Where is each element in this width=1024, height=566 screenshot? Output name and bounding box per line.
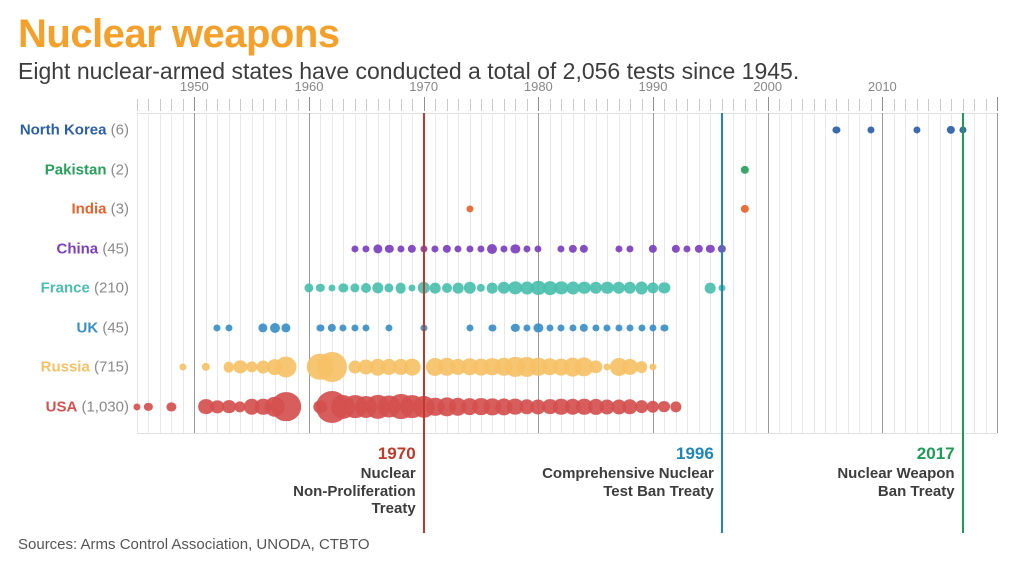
treaty-name-line: Comprehensive Nuclear: [542, 465, 714, 483]
gridline-1999: [756, 113, 757, 433]
data-point: [385, 244, 393, 252]
data-point: [442, 244, 450, 252]
gridline-2009: [871, 113, 872, 433]
data-point: [500, 245, 507, 252]
axis-tick-1968: [401, 99, 402, 111]
gridline-1995: [710, 113, 711, 433]
data-point: [569, 324, 576, 331]
gridline-1974: [470, 113, 471, 433]
data-point: [546, 324, 553, 331]
data-point: [647, 400, 659, 412]
data-point: [466, 324, 473, 331]
gridline-1992: [676, 113, 677, 433]
gridline-1969: [412, 113, 413, 433]
data-point: [179, 363, 186, 370]
gridline-1978: [515, 113, 516, 433]
gridline-1956: [263, 113, 264, 433]
data-point: [615, 324, 622, 331]
treaty-name-line: Treaty: [293, 500, 416, 518]
gridline-2011: [894, 113, 895, 433]
gridline-2002: [791, 113, 792, 433]
gridline-1966: [378, 113, 379, 433]
gridline-1973: [458, 113, 459, 433]
data-point: [615, 245, 622, 252]
axis-tick-label-1960: 1960: [295, 79, 324, 94]
data-point: [569, 244, 577, 252]
axis-tick-1967: [389, 99, 390, 111]
treaty-name-line: Test Ban Treaty: [542, 483, 714, 501]
data-point: [351, 324, 358, 331]
axis-tick-2017: [963, 99, 964, 111]
axis-tick-1969: [412, 99, 413, 111]
axis-tick-1982: [561, 99, 562, 111]
data-point: [466, 205, 473, 212]
treaty-annotation-1996: 1996Comprehensive NuclearTest Ban Treaty: [542, 444, 714, 500]
axis-tick-2014: [928, 99, 929, 111]
row-label-india: India (3): [0, 201, 129, 218]
axis-tick-1997: [733, 99, 734, 111]
plot-bottom-rule: [137, 433, 997, 434]
row-label-name: Russia: [41, 359, 90, 376]
axis-tick-1948: [171, 99, 172, 111]
gridline-2020: [997, 113, 998, 433]
gridline-1976: [492, 113, 493, 433]
data-point: [523, 324, 530, 331]
axis-tick-1955: [252, 99, 253, 111]
axis-tick-1945: [137, 99, 138, 111]
axis-tick-1978: [515, 99, 516, 111]
row-label-china: China (45): [0, 240, 129, 257]
gridline-2016: [951, 113, 952, 433]
gridline-2010: [882, 113, 883, 433]
row-label-north-korea: North Korea (6): [0, 122, 129, 139]
gridline-2001: [779, 113, 780, 433]
row-label-name: France: [41, 280, 90, 297]
axis-tick-2020: [997, 97, 998, 111]
axis-tick-1973: [458, 99, 459, 111]
data-point: [466, 245, 473, 252]
gridline-1975: [481, 113, 482, 433]
row-label-name: USA: [46, 398, 78, 415]
axis-tick-1993: [687, 99, 688, 111]
gridline-1962: [332, 113, 333, 433]
data-point: [339, 283, 348, 292]
gridline-1968: [401, 113, 402, 433]
axis-tick-1965: [366, 99, 367, 111]
axis-tick-2009: [871, 99, 872, 111]
row-label-count: (6): [107, 122, 130, 139]
data-point: [397, 245, 404, 252]
axis-tick-2008: [859, 99, 860, 111]
gridline-1986: [607, 113, 608, 433]
data-point: [558, 324, 565, 331]
treaty-name-line: Non-Proliferation: [293, 483, 416, 501]
sources-note: Sources: Arms Control Association, UNODA…: [18, 536, 370, 553]
data-point: [373, 244, 382, 253]
data-point: [453, 283, 464, 294]
data-point: [636, 361, 648, 373]
row-label-count: (45): [98, 240, 129, 257]
data-point: [276, 356, 297, 377]
gridline-1989: [642, 113, 643, 433]
gridline-2008: [859, 113, 860, 433]
data-point: [649, 324, 656, 331]
axis-tick-1947: [160, 99, 161, 111]
axis-tick-1970: [424, 97, 425, 111]
gridline-1972: [447, 113, 448, 433]
gridline-1987: [619, 113, 620, 433]
axis-tick-1966: [378, 99, 379, 111]
gridline-2004: [814, 113, 815, 433]
gridline-1971: [435, 113, 436, 433]
axis-tick-1979: [527, 99, 528, 111]
gridline-1984: [584, 113, 585, 433]
data-point: [535, 245, 542, 252]
row-label-name: UK: [76, 319, 98, 336]
axis-tick-1962: [332, 99, 333, 111]
row-label-count: (3): [107, 201, 130, 218]
row-label-russia: Russia (715): [0, 359, 129, 376]
treaty-annotation-2017: 2017Nuclear WeaponBan Treaty: [837, 444, 954, 500]
data-point: [523, 245, 530, 252]
axis-tick-1989: [642, 99, 643, 111]
row-label-count: (1,030): [77, 398, 129, 415]
data-point: [340, 324, 347, 331]
data-point: [635, 282, 648, 295]
axis-tick-1975: [481, 99, 482, 111]
gridline-2003: [802, 113, 803, 433]
gridline-1979: [527, 113, 528, 433]
data-point: [659, 401, 671, 413]
row-label-uk: UK (45): [0, 319, 129, 336]
data-point: [627, 245, 634, 252]
data-point: [672, 244, 680, 252]
row-label-count: (2): [107, 161, 130, 178]
axis-tick-1972: [447, 99, 448, 111]
data-point: [558, 245, 565, 252]
data-point: [627, 324, 634, 331]
data-point: [670, 401, 681, 412]
axis-tick-label-1950: 1950: [180, 79, 209, 94]
data-point: [592, 324, 599, 331]
data-point: [487, 283, 498, 294]
gridline-2014: [928, 113, 929, 433]
axis-tick-2012: [905, 99, 906, 111]
data-point: [259, 323, 268, 332]
gridline-1951: [206, 113, 207, 433]
gridline-1948: [171, 113, 172, 433]
gridline-1990: [653, 113, 654, 433]
gridline-2006: [836, 113, 837, 433]
data-point: [947, 126, 955, 134]
treaty-line-1996: [721, 113, 723, 533]
axis-tick-1957: [275, 99, 276, 111]
axis-tick-1988: [630, 99, 631, 111]
data-point: [695, 244, 703, 252]
axis-tick-label-1990: 1990: [639, 79, 668, 94]
axis-tick-1987: [619, 99, 620, 111]
data-point: [363, 245, 370, 252]
gridline-1998: [745, 113, 746, 433]
axis-tick-2002: [791, 99, 792, 111]
axis-tick-1984: [584, 99, 585, 111]
axis-tick-1958: [286, 99, 287, 111]
axis-tick-label-2000: 2000: [753, 79, 782, 94]
data-point: [649, 244, 657, 252]
axis-tick-label-1970: 1970: [409, 79, 438, 94]
axis-tick-1971: [435, 99, 436, 111]
gridline-2012: [905, 113, 906, 433]
axis-tick-2018: [974, 99, 975, 111]
treaty-name-line: Ban Treaty: [837, 483, 954, 501]
axis-tick-1953: [229, 99, 230, 111]
row-label-count: (45): [98, 319, 129, 336]
data-point: [404, 359, 421, 376]
data-point: [913, 126, 920, 133]
data-point: [741, 205, 749, 213]
gridline-1954: [240, 113, 241, 433]
data-point: [270, 323, 280, 333]
data-point: [706, 244, 714, 252]
axis-tick-1959: [298, 99, 299, 111]
treaty-annotation-1970: 1970NuclearNon-ProliferationTreaty: [293, 444, 416, 518]
gridline-1965: [366, 113, 367, 433]
treaty-year: 1970: [293, 444, 416, 464]
axis-tick-1977: [504, 99, 505, 111]
axis-tick-1986: [607, 99, 608, 111]
data-point: [351, 245, 358, 252]
gridline-1949: [183, 113, 184, 433]
axis-tick-1994: [699, 99, 700, 111]
axis-tick-1976: [492, 99, 493, 111]
row-label-count: (715): [90, 359, 129, 376]
data-point: [705, 283, 716, 294]
data-point: [167, 402, 176, 411]
page-title: Nuclear weapons: [18, 14, 340, 54]
axis-tick-1995: [710, 99, 711, 111]
gridline-2015: [940, 113, 941, 433]
gridline-1977: [504, 113, 505, 433]
gridline-1953: [229, 113, 230, 433]
gridline-1994: [699, 113, 700, 433]
gridline-2007: [848, 113, 849, 433]
data-point: [225, 324, 232, 331]
axis-tick-1946: [148, 99, 149, 111]
gridline-1946: [148, 113, 149, 433]
nuclear-weapons-chart: Nuclear weapons Eight nuclear-armed stat…: [0, 0, 1024, 566]
treaty-name-line: Nuclear Weapon: [837, 465, 954, 483]
row-label-france: France (210): [0, 280, 129, 297]
axis-tick-2019: [986, 99, 987, 111]
data-point: [684, 245, 691, 252]
row-label-name: North Korea: [20, 122, 107, 139]
axis-tick-1999: [756, 99, 757, 111]
data-point: [304, 283, 313, 292]
axis-tick-1950: [194, 97, 195, 111]
axis-tick-2007: [848, 99, 849, 111]
axis-tick-1990: [653, 97, 654, 111]
data-point: [350, 283, 359, 292]
data-point: [511, 323, 519, 331]
axis-tick-1992: [676, 99, 677, 111]
axis-tick-2003: [802, 99, 803, 111]
data-point: [328, 284, 335, 291]
axis-tick-2000: [768, 97, 769, 111]
gridline-1963: [343, 113, 344, 433]
gridline-2019: [986, 113, 987, 433]
gridline-1993: [687, 113, 688, 433]
data-point: [246, 361, 257, 372]
treaty-year: 2017: [837, 444, 954, 464]
data-point: [477, 284, 485, 292]
gridline-1985: [596, 113, 597, 433]
treaty-name-line: Nuclear: [293, 465, 416, 483]
plot-top-rule: [137, 113, 997, 114]
data-point: [649, 363, 656, 370]
data-point: [234, 360, 247, 373]
data-point: [741, 165, 749, 173]
gridline-1959: [298, 113, 299, 433]
axis-tick-1960: [309, 97, 310, 111]
axis-tick-2004: [814, 99, 815, 111]
gridline-2000: [768, 113, 769, 433]
data-point: [317, 352, 347, 382]
data-point: [589, 360, 602, 373]
axis-tick-1956: [263, 99, 264, 111]
axis-tick-1964: [355, 99, 356, 111]
data-point: [442, 283, 452, 293]
data-point: [867, 126, 874, 133]
row-label-name: India: [71, 201, 106, 218]
axis-tick-2016: [951, 99, 952, 111]
axis-tick-label-1980: 1980: [524, 79, 553, 94]
data-point: [511, 244, 520, 253]
treaty-year: 1996: [542, 444, 714, 464]
data-point: [214, 324, 221, 331]
data-point: [833, 126, 840, 133]
data-point: [144, 402, 152, 410]
data-point: [361, 283, 371, 293]
gridline-1964: [355, 113, 356, 433]
row-label-usa: USA (1,030): [0, 398, 129, 415]
axis-tick-2010: [882, 97, 883, 111]
data-point: [271, 392, 301, 422]
data-point: [363, 324, 370, 331]
axis-tick-1996: [722, 99, 723, 111]
data-point: [385, 283, 394, 292]
axis-tick-1954: [240, 99, 241, 111]
data-point: [638, 324, 645, 331]
data-point: [604, 324, 611, 331]
data-point: [133, 403, 140, 410]
data-point: [647, 282, 658, 293]
axis-tick-1991: [664, 99, 665, 111]
axis-tick-1952: [217, 99, 218, 111]
gridline-1980: [538, 113, 539, 433]
data-point: [281, 323, 290, 332]
gridline-1983: [573, 113, 574, 433]
data-point: [386, 324, 393, 331]
plot-area: 1950196019701980199020002010: [137, 113, 997, 433]
axis-tick-2005: [825, 99, 826, 111]
data-point: [432, 245, 439, 252]
axis-tick-1980: [538, 97, 539, 111]
axis-tick-1949: [183, 99, 184, 111]
data-point: [430, 283, 441, 294]
gridline-1982: [561, 113, 562, 433]
axis-tick-1998: [745, 99, 746, 111]
axis-tick-1961: [320, 99, 321, 111]
axis-tick-1951: [206, 99, 207, 111]
axis-tick-2013: [917, 99, 918, 111]
gridline-1957: [275, 113, 276, 433]
gridline-1947: [160, 113, 161, 433]
axis-tick-2011: [894, 99, 895, 111]
data-point: [372, 282, 383, 293]
data-point: [659, 282, 670, 293]
data-point: [489, 324, 496, 331]
gridline-1988: [630, 113, 631, 433]
axis-tick-1981: [550, 99, 551, 111]
row-label-pakistan: Pakistan (2): [0, 161, 129, 178]
gridline-1955: [252, 113, 253, 433]
data-point: [202, 363, 210, 371]
gridline-1960: [309, 113, 310, 433]
gridline-2013: [917, 113, 918, 433]
gridline-1958: [286, 113, 287, 433]
treaty-line-1970: [423, 113, 425, 533]
axis-tick-1974: [470, 99, 471, 111]
axis-tick-2015: [940, 99, 941, 111]
treaty-line-2017: [962, 113, 964, 533]
data-point: [580, 323, 588, 331]
data-point: [455, 245, 462, 252]
data-point: [317, 324, 324, 331]
data-point: [409, 284, 416, 291]
data-point: [661, 324, 668, 331]
data-point: [328, 323, 336, 331]
axis-tick-1985: [596, 99, 597, 111]
row-label-name: China: [56, 240, 98, 257]
row-label-name: Pakistan: [45, 161, 107, 178]
data-point: [408, 244, 416, 252]
gridline-1945: [137, 113, 138, 433]
row-label-count: (210): [90, 280, 129, 297]
axis-tick-2006: [836, 99, 837, 111]
data-point: [477, 245, 484, 252]
gridline-1997: [733, 113, 734, 433]
gridline-1981: [550, 113, 551, 433]
gridline-1952: [217, 113, 218, 433]
gridline-1950: [194, 113, 195, 433]
data-point: [463, 282, 475, 294]
data-point: [534, 323, 543, 332]
data-point: [580, 244, 588, 252]
data-point: [223, 362, 234, 373]
gridline-1967: [389, 113, 390, 433]
gridline-1991: [664, 113, 665, 433]
data-point: [395, 283, 406, 294]
data-point: [316, 284, 324, 292]
gridline-2018: [974, 113, 975, 433]
gridline-2005: [825, 113, 826, 433]
gridline-1961: [320, 113, 321, 433]
axis-tick-1963: [343, 99, 344, 111]
axis-tick-label-2010: 2010: [868, 79, 897, 94]
data-point: [487, 244, 497, 254]
axis-tick-2001: [779, 99, 780, 111]
axis-tick-1983: [573, 99, 574, 111]
